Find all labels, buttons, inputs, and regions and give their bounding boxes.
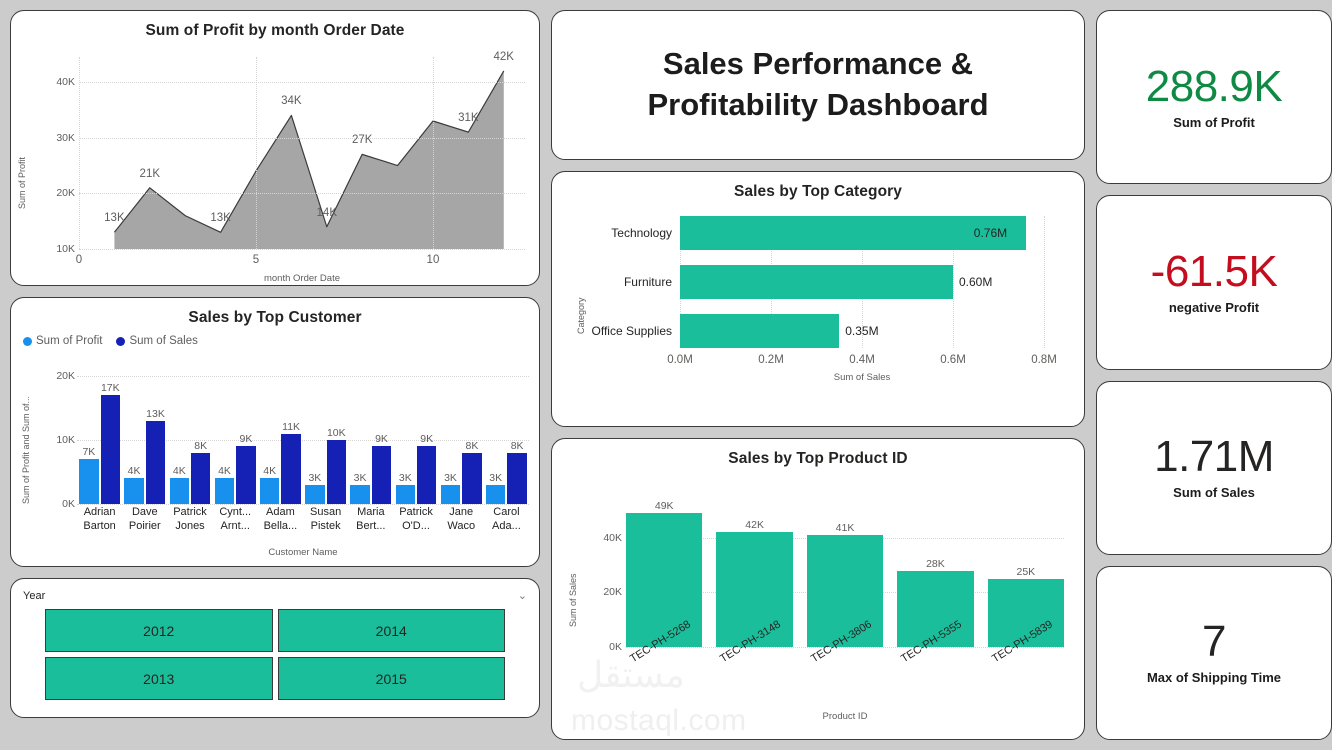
x-axis-tick: TEC-PH-3806 — [807, 651, 883, 713]
data-label: 14K — [317, 207, 337, 219]
x-axis-tick: CarolAda... — [484, 506, 529, 550]
data-label: 4K — [173, 465, 186, 477]
x-axis-tick: PatrickJones — [167, 506, 212, 550]
legend-label: Sum of Sales — [129, 335, 197, 347]
chart-title: Sales by Top Category — [552, 172, 1084, 201]
y-axis-tick: 20K — [56, 370, 75, 382]
y-axis-label: Category — [576, 234, 586, 334]
bar-group[interactable]: 3K8K — [484, 376, 529, 504]
chart-title: Sales by Top Customer — [11, 298, 539, 327]
bar[interactable]: 3K — [396, 485, 415, 504]
data-label: 17K — [101, 382, 120, 394]
bar-group[interactable]: 7K17K — [77, 376, 122, 504]
sales-by-product-chart[interactable]: Sales by Top Product ID Sum of Sales 0K2… — [551, 438, 1085, 740]
title-line-2: Profitability Dashboard — [647, 85, 988, 126]
y-axis-tick: 20K — [56, 187, 75, 199]
y-axis-label: Sum of Profit — [17, 89, 27, 209]
sales-by-category-chart[interactable]: Sales by Top Category Category Technolog… — [551, 171, 1085, 427]
bar-group[interactable]: 3K10K — [303, 376, 348, 504]
y-axis-label: Sum of Profit and Sum of... — [21, 378, 31, 504]
kpi-label: Sum of Sales — [1173, 485, 1255, 500]
x-axis-tick: MariaBert... — [348, 506, 393, 550]
data-label: 31K — [458, 112, 478, 124]
gridline — [256, 57, 257, 249]
data-label: 4K — [128, 465, 141, 477]
data-label: 42K — [745, 519, 764, 531]
x-axis-tick: PatrickO'D... — [393, 506, 438, 550]
bar[interactable]: 8K — [462, 453, 481, 504]
y-axis-tick: Office Supplies — [592, 324, 673, 338]
x-axis-label: Product ID — [626, 711, 1064, 722]
slicer-option-2013[interactable]: 2013 — [45, 657, 273, 700]
kpi-label: negative Profit — [1169, 300, 1259, 315]
x-axis-label: month Order Date — [79, 273, 525, 284]
data-label: 3K — [399, 472, 412, 484]
data-label: 3K — [444, 472, 457, 484]
bar[interactable]: 4K — [260, 478, 279, 504]
sales-by-customer-chart[interactable]: Sales by Top Customer Sum of ProfitSum o… — [10, 297, 540, 567]
data-label: 34K — [281, 95, 301, 107]
x-axis-tick: 0.6M — [940, 354, 966, 366]
page-title: Sales Performance & Profitability Dashbo… — [647, 44, 988, 126]
chart-legend[interactable]: Sum of ProfitSum of Sales — [11, 327, 539, 347]
bar[interactable]: 9K — [236, 446, 255, 504]
bar[interactable]: 3K — [305, 485, 324, 504]
kpi-card[interactable]: -61.5Knegative Profit — [1096, 195, 1332, 369]
gridline — [79, 193, 525, 194]
gridline — [79, 138, 525, 139]
x-axis-ticks: 0510 — [79, 254, 525, 270]
data-label: 49K — [655, 500, 674, 512]
data-label: 21K — [140, 168, 160, 180]
data-label: 42K — [494, 51, 514, 63]
bar[interactable]: 4K — [215, 478, 234, 504]
bar-group[interactable]: 4K8K — [167, 376, 212, 504]
data-label: 8K — [511, 440, 524, 452]
bar[interactable]: 13K — [146, 421, 165, 504]
left-column: Sum of Profit by month Order Date Sum of… — [10, 10, 540, 740]
y-axis-ticks: 0K10K20K — [41, 376, 75, 504]
bar[interactable] — [680, 265, 953, 299]
gridline — [79, 57, 80, 249]
gridline — [77, 504, 529, 505]
plot-area: 7K17K4K13K4K8K4K9K4K11K3K10K3K9K3K9K3K8K… — [77, 376, 529, 504]
chart-title: Sum of Profit by month Order Date — [11, 11, 539, 40]
data-label: 13K — [146, 408, 165, 420]
bar[interactable]: 3K — [350, 485, 369, 504]
bar-group[interactable]: 4K13K — [122, 376, 167, 504]
y-axis-tick: 0K — [62, 498, 75, 510]
data-label: 9K — [239, 433, 252, 445]
bar[interactable]: 41K — [807, 535, 883, 647]
gridline — [1044, 216, 1045, 348]
kpi-column: 288.9KSum of Profit-61.5Knegative Profit… — [1096, 10, 1332, 740]
x-axis-tick: TEC-PH-3148 — [716, 651, 792, 713]
chart-title: Sales by Top Product ID — [552, 439, 1084, 468]
data-label: 41K — [836, 522, 855, 534]
year-slicer[interactable]: Year ⌄ 2012201420132015 — [10, 578, 540, 718]
plot-area: 13K21K13K34K14K27K31K42K — [79, 57, 525, 249]
area-series — [79, 57, 525, 249]
profit-by-month-chart[interactable]: Sum of Profit by month Order Date Sum of… — [10, 10, 540, 286]
y-axis-tick: 40K — [56, 76, 75, 88]
kpi-label: Max of Shipping Time — [1147, 670, 1281, 685]
slicer-header: Year ⌄ — [23, 589, 527, 602]
bar[interactable]: 3K — [486, 485, 505, 504]
data-label: 28K — [926, 558, 945, 570]
gridline — [79, 82, 525, 83]
kpi-label: Sum of Profit — [1173, 115, 1255, 130]
dashboard-canvas: Sum of Profit by month Order Date Sum of… — [0, 0, 1332, 750]
data-label: 0.60M — [959, 275, 992, 289]
x-axis-categories: AdrianBartonDavePoirierPatrickJonesCynt.… — [77, 506, 529, 550]
data-label: 11K — [282, 421, 300, 433]
x-axis-tick: AdamBella... — [258, 506, 303, 550]
bar[interactable]: 10K — [327, 440, 346, 504]
bar-row[interactable]: Office Supplies0.35M — [680, 314, 1044, 348]
slicer-option-2015[interactable]: 2015 — [278, 657, 506, 700]
x-axis-ticks: 0.0M0.2M0.4M0.6M0.8M — [680, 354, 1044, 370]
y-axis-tick: Technology — [611, 226, 672, 240]
y-axis-tick: Furniture — [624, 275, 672, 289]
legend-label: Sum of Profit — [36, 335, 102, 347]
y-axis-ticks: 0K20K40K — [588, 505, 622, 647]
y-axis-label: Sum of Sales — [568, 527, 578, 627]
slicer-options[interactable]: 2012201420132015 — [23, 609, 527, 700]
x-axis-label: Sum of Sales — [680, 372, 1044, 383]
bar[interactable]: 42K — [716, 532, 792, 647]
center-column: Sales Performance & Profitability Dashbo… — [551, 10, 1085, 740]
bar[interactable]: 11K — [281, 434, 300, 504]
legend-swatch-icon — [23, 337, 32, 346]
data-label: 9K — [420, 433, 433, 445]
data-label: 13K — [104, 212, 124, 224]
y-axis-tick: 0K — [609, 641, 622, 653]
gridline — [433, 57, 434, 249]
gridline — [626, 647, 1064, 648]
y-axis-tick: 10K — [56, 434, 75, 446]
y-axis-tick: 10K — [56, 243, 75, 255]
bar-group[interactable]: 3K8K — [439, 376, 484, 504]
x-axis-tick: 0.0M — [667, 354, 693, 366]
data-label: 8K — [466, 440, 479, 452]
bar[interactable]: 17K — [101, 395, 120, 504]
data-label: 7K — [82, 446, 95, 458]
data-label: 3K — [308, 472, 321, 484]
y-axis-tick: 40K — [603, 532, 622, 544]
data-label: 0.35M — [845, 324, 878, 338]
bar[interactable]: 8K — [191, 453, 210, 504]
legend-item[interactable]: Sum of Profit — [23, 335, 102, 347]
bar[interactable]: 9K — [372, 446, 391, 504]
x-axis-tick: 0.2M — [758, 354, 784, 366]
data-label: 9K — [375, 433, 388, 445]
data-label: 3K — [354, 472, 367, 484]
y-axis-tick: 30K — [56, 132, 75, 144]
y-axis-ticks: 10K20K30K40K — [31, 57, 75, 249]
slicer-option-2014[interactable]: 2014 — [278, 609, 506, 652]
bar[interactable]: 4K — [170, 478, 189, 504]
bar-row[interactable]: Furniture0.60M — [680, 265, 1044, 299]
kpi-value: 7 — [1202, 620, 1226, 664]
slicer-field-label: Year — [23, 590, 45, 602]
data-label: 4K — [263, 465, 276, 477]
dashboard-title-card: Sales Performance & Profitability Dashbo… — [551, 10, 1085, 160]
x-axis-tick: 5 — [253, 254, 259, 266]
x-axis-tick: TEC-PH-5839 — [988, 651, 1064, 713]
bar[interactable] — [680, 314, 839, 348]
x-axis-tick: TEC-PH-5268 — [626, 651, 702, 713]
x-axis-tick: DavePoirier — [122, 506, 167, 550]
data-label: 3K — [489, 472, 502, 484]
data-label: 13K — [210, 212, 230, 224]
legend-item[interactable]: Sum of Sales — [116, 335, 197, 347]
chevron-down-icon[interactable]: ⌄ — [518, 589, 527, 602]
x-axis-tick: Cynt...Arnt... — [213, 506, 258, 550]
title-line-1: Sales Performance & — [647, 44, 988, 85]
kpi-card[interactable]: 288.9KSum of Profit — [1096, 10, 1332, 184]
bar-row[interactable]: Technology0.76M — [680, 216, 1044, 250]
bar[interactable]: 3K — [441, 485, 460, 504]
legend-swatch-icon — [116, 337, 125, 346]
kpi-value: 1.71M — [1154, 435, 1274, 479]
bar-group[interactable]: 3K9K — [348, 376, 393, 504]
bar-group[interactable]: 4K9K — [213, 376, 258, 504]
kpi-card[interactable]: 1.71MSum of Sales — [1096, 381, 1332, 555]
slicer-option-2012[interactable]: 2012 — [45, 609, 273, 652]
x-axis-categories: TEC-PH-5268TEC-PH-3148TEC-PH-3806TEC-PH-… — [626, 651, 1064, 713]
bar-group[interactable]: 4K11K — [258, 376, 303, 504]
x-axis-tick: JaneWaco — [439, 506, 484, 550]
bar[interactable]: 8K — [507, 453, 526, 504]
x-axis-tick: 10 — [427, 254, 440, 266]
bar[interactable]: 7K — [79, 459, 98, 504]
x-axis-tick: SusanPistek — [303, 506, 348, 550]
data-label: 0.76M — [974, 226, 1007, 240]
y-axis-tick: 20K — [603, 586, 622, 598]
data-label: 27K — [352, 134, 372, 146]
data-label: 25K — [1016, 566, 1035, 578]
kpi-value: -61.5K — [1151, 250, 1278, 294]
bar[interactable]: 4K — [124, 478, 143, 504]
data-label: 8K — [194, 440, 207, 452]
data-label: 10K — [327, 427, 346, 439]
gridline — [79, 249, 525, 250]
plot-area: Technology0.76MFurniture0.60MOffice Supp… — [680, 216, 1044, 348]
x-axis-tick: AdrianBarton — [77, 506, 122, 550]
kpi-card[interactable]: 7Max of Shipping Time — [1096, 566, 1332, 740]
x-axis-tick: 0.4M — [849, 354, 875, 366]
x-axis-tick: 0.8M — [1031, 354, 1057, 366]
data-label: 4K — [218, 465, 231, 477]
x-axis-tick: 0 — [76, 254, 82, 266]
x-axis-label: Customer Name — [77, 547, 529, 558]
kpi-value: 288.9K — [1146, 65, 1282, 109]
bar[interactable]: 9K — [417, 446, 436, 504]
bar-group[interactable]: 3K9K — [393, 376, 438, 504]
x-axis-tick: TEC-PH-5355 — [897, 651, 973, 713]
